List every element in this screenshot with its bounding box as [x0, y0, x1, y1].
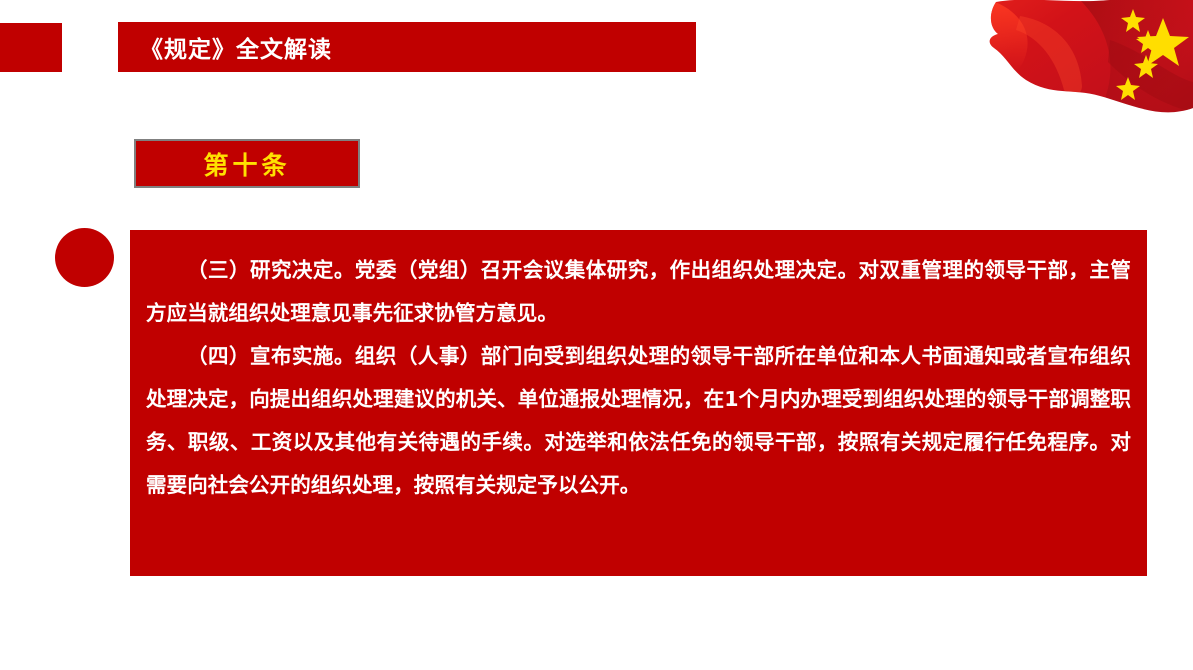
page-title: 《规定》全文解读	[118, 30, 332, 64]
content-paragraph: （四）宣布实施。组织（人事）部门向受到组织处理的领导干部所在单位和本人书面通知或…	[146, 335, 1131, 507]
content-paragraph: （三）研究决定。党委（党组）召开会议集体研究，作出组织处理决定。对双重管理的领导…	[146, 249, 1131, 335]
content-panel: （三）研究决定。党委（党组）召开会议集体研究，作出组织处理决定。对双重管理的领导…	[130, 230, 1147, 576]
section-label-box: 第十条	[134, 139, 360, 188]
china-flag-icon	[960, 0, 1193, 145]
header-accent-block	[0, 23, 62, 72]
section-label: 第十条	[203, 146, 290, 182]
header-title-bar: 《规定》全文解读	[118, 22, 696, 72]
bullet-marker-icon	[55, 228, 114, 287]
